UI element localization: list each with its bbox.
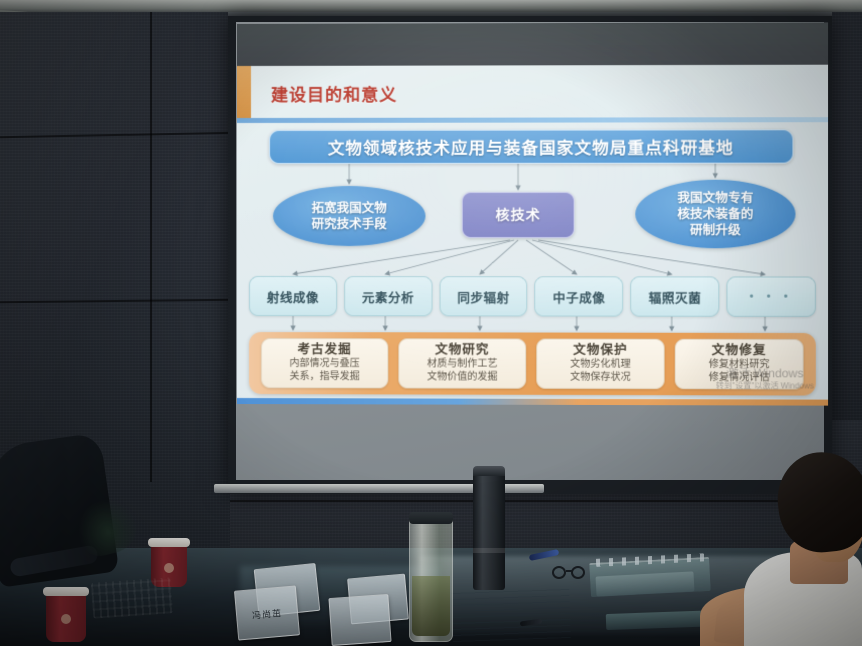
chip-neutron-imaging: 中子成像 <box>535 276 624 316</box>
level2-left-label: 拓宽我国文物研究技术手段 <box>312 200 387 233</box>
level2-nuclear-tech-box: 核技术 <box>462 192 575 238</box>
app-box-heading: 考古发掘 <box>298 342 352 357</box>
tea-leaves <box>412 576 450 636</box>
chip-xray-imaging: 射线成像 <box>249 276 337 316</box>
app-box-line2: 文物保存状况 <box>570 372 631 385</box>
cup-logo-icon <box>61 614 71 624</box>
app-box-relic-restoration: 文物修复 修复材料研究 修复情况评估 <box>675 339 804 390</box>
lens-left <box>552 566 566 579</box>
chip-synchrotron-radiation: 同步辐射 <box>439 276 527 316</box>
black-thermos-bottle <box>473 470 505 590</box>
app-box-line1: 文物劣化机理 <box>570 358 631 371</box>
app-box-heading: 文物修复 <box>712 343 767 358</box>
chip-label: 同步辐射 <box>457 287 509 306</box>
level2-right-label: 我国文物专有核技术装备的研制升级 <box>677 189 753 238</box>
app-box-relic-research: 文物研究 材质与制作工艺 文物价值的发掘 <box>398 338 526 388</box>
app-box-line2: 关系，指导发掘 <box>290 371 360 384</box>
level3-technique-chip-row: 射线成像 元素分析 同步辐射 中子成像 辐照灭菌 • • • <box>249 276 816 317</box>
chip-element-analysis: 元素分析 <box>344 276 432 316</box>
chip-irradiation-sterilization: 辐照灭菌 <box>631 276 720 316</box>
app-box-line1: 内部情况与叠压 <box>290 358 360 371</box>
slide-title: 建设目的和意义 <box>271 80 397 105</box>
thermos-band <box>473 548 505 553</box>
level1-label: 文物领域核技术应用与装备国家文物局重点科研基地 <box>328 134 734 159</box>
ellipsis-icon: • • • <box>750 291 793 303</box>
app-box-line1: 材质与制作工艺 <box>427 358 497 371</box>
level2-nuclear-label: 核技术 <box>495 205 540 225</box>
name-plate-text: 冯尚茁 <box>237 605 298 623</box>
wall-seam-vertical <box>150 12 152 482</box>
level4-application-band: 考古发掘 内部情况与叠压 关系，指导发掘 文物研究 材质与制作工艺 文物价值的发… <box>249 332 816 396</box>
keyboard <box>91 577 173 618</box>
conference-room-scene: 建设目的和意义 <box>0 0 862 646</box>
name-plate-text <box>331 619 389 623</box>
app-box-heading: 文物保护 <box>573 343 628 358</box>
chip-label: 辐照灭菌 <box>649 287 702 306</box>
slide-title-underline <box>237 117 828 123</box>
chip-label: 射线成像 <box>267 287 319 306</box>
app-box-line2: 修复情况评估 <box>709 372 770 385</box>
app-box-line2: 文物价值的发掘 <box>427 372 497 385</box>
app-box-heading: 文物研究 <box>435 343 489 358</box>
slide-diagram-body: 文物领域核技术应用与装备国家文物局重点科研基地 拓宽我国文物研究技术手段 核技术… <box>237 123 828 399</box>
cup-logo-icon <box>164 563 174 573</box>
name-plate-holder-1: 冯尚茁 <box>234 585 300 640</box>
paper-cup-front <box>46 594 86 642</box>
app-box-relic-protection: 文物保护 文物劣化机理 文物保存状况 <box>536 339 664 390</box>
level1-base-title: 文物领域核技术应用与装备国家文物局重点科研基地 <box>269 129 793 164</box>
projected-slide: 建设目的和意义 <box>237 22 828 405</box>
tea-jar-lid <box>409 512 453 524</box>
slide-top-band <box>237 22 828 66</box>
chip-ellipsis: • • • <box>727 276 816 316</box>
app-box-archaeology: 考古发掘 内部情况与叠压 关系，指导发掘 <box>261 338 388 388</box>
slide-title-row: 建设目的和意义 <box>237 65 828 120</box>
name-plate-holder-3 <box>328 594 391 646</box>
printed-document <box>451 586 571 642</box>
app-box-line1: 修复材料研究 <box>709 359 770 372</box>
level2-ellipse-left: 拓宽我国文物研究技术手段 <box>273 186 425 246</box>
back-wall-seam <box>230 500 862 502</box>
chip-label: 元素分析 <box>362 287 414 306</box>
lens-right <box>571 566 585 579</box>
level2-ellipse-right: 我国文物专有核技术装备的研制升级 <box>635 180 795 249</box>
thermos-cap <box>473 466 505 476</box>
chip-label: 中子成像 <box>553 287 606 306</box>
